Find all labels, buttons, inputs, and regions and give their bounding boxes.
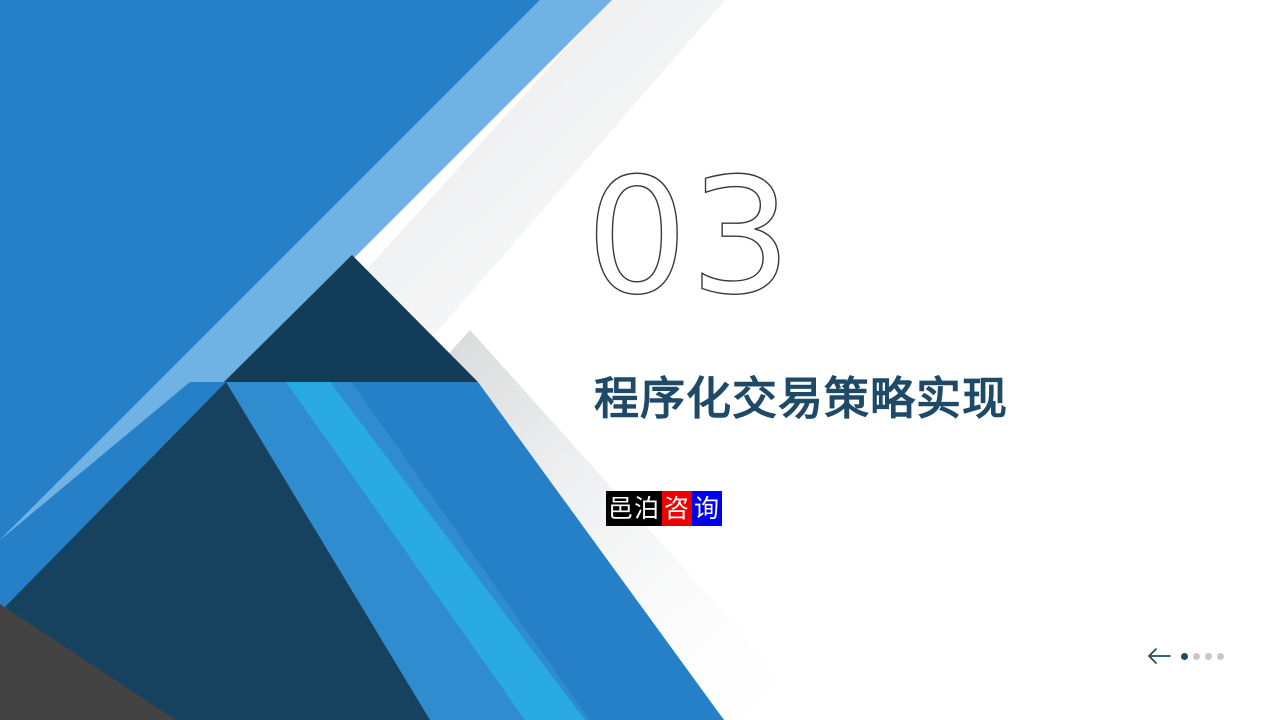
shape-blue-band-lower	[352, 382, 724, 720]
left-arrow-icon[interactable]	[1146, 647, 1172, 665]
shape-navy-diamond	[226, 255, 478, 510]
shape-lightblue-band	[0, 0, 612, 612]
presentation-slide: 03 程序化交易策略实现 邑泊 咨 询	[0, 0, 1280, 720]
slide-background-fill	[0, 0, 1280, 720]
slide-navigation	[1146, 644, 1224, 668]
slide-dots	[1181, 653, 1224, 660]
brand-logo: 邑泊 咨 询	[606, 491, 722, 526]
logo-segment-red: 咨	[662, 491, 692, 526]
slide-dot-3[interactable]	[1205, 653, 1212, 660]
slide-dot-4[interactable]	[1217, 653, 1224, 660]
slide-dot-1[interactable]	[1181, 653, 1188, 660]
shape-gray-triangle	[0, 604, 176, 720]
decorative-background	[0, 0, 1280, 720]
band-shadow-upper	[0, 0, 725, 720]
shape-blue-wedge	[226, 382, 590, 720]
logo-segment-dark: 邑泊	[606, 491, 662, 526]
shape-cyan-stripe	[286, 382, 585, 720]
slide-dot-2[interactable]	[1193, 653, 1200, 660]
page-title: 程序化交易策略实现	[594, 368, 1008, 430]
section-number: 03	[586, 152, 1006, 322]
shape-blue-triangle-top	[0, 0, 540, 540]
shape-blue-sliver	[0, 382, 226, 612]
logo-segment-blue: 询	[692, 491, 722, 526]
